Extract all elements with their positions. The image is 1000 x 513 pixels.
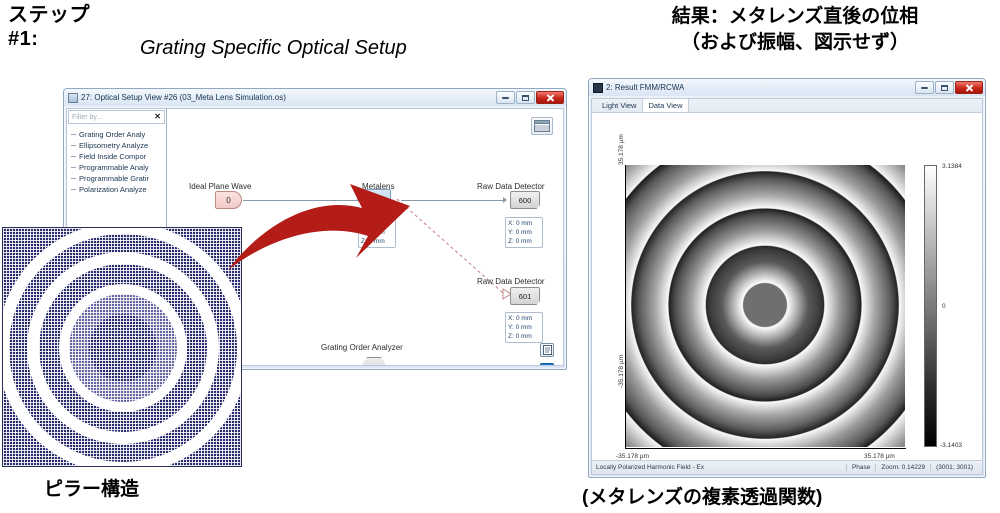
- document-glyph: [543, 345, 552, 355]
- step-label: ステップ #1:: [8, 4, 90, 51]
- pillar-structure-image: [2, 227, 242, 467]
- tree-item[interactable]: Field Inside Compor: [70, 151, 166, 162]
- clear-filter-icon[interactable]: ✕: [154, 113, 161, 121]
- x-axis-line: [625, 448, 906, 449]
- phase-heatmap[interactable]: [625, 165, 905, 447]
- minimize-button[interactable]: [915, 81, 934, 94]
- filter-input[interactable]: Filter by... ✕: [68, 110, 165, 124]
- node-raw-data-detector-600[interactable]: 600: [510, 191, 540, 209]
- tree-item[interactable]: Grating Order Analy: [70, 129, 166, 140]
- node-label-raw-data-detector-600: Raw Data Detector: [477, 182, 545, 191]
- colorbar-mid-label: 0: [942, 303, 946, 310]
- y-axis-max-label: 35.178 µm: [618, 134, 625, 165]
- x-axis-min-label: -35.178 µm: [616, 453, 649, 460]
- optical-setup-window-controls[interactable]: [496, 91, 564, 104]
- pillar-core: [89, 314, 157, 382]
- tree-item[interactable]: Programmable Gratir: [70, 173, 166, 184]
- node-grating-order-analyzer[interactable]: 800: [360, 357, 388, 365]
- result-window-controls[interactable]: [915, 81, 983, 94]
- coord-y: Y: 0 mm: [508, 228, 540, 237]
- optical-setup-title: 27: Optical Setup View #26 (03_Meta Lens…: [81, 93, 286, 102]
- coord-x: X: 0 mm: [508, 219, 540, 228]
- y-axis-line: [625, 165, 626, 448]
- pillar-rings: [3, 228, 241, 466]
- tree-item[interactable]: Polarization Analyze: [70, 184, 166, 195]
- colorbar-max-label: 3.1384: [942, 163, 962, 170]
- status-size: (3001; 3001): [930, 464, 978, 471]
- edge-metalens-to-detector601: [395, 195, 525, 305]
- setup-heading: Grating Specific Optical Setup: [140, 37, 407, 60]
- component-tree-list[interactable]: Grating Order Analy Ellipsometry Analyze…: [67, 125, 166, 195]
- result-body: Light View Data View: [591, 98, 983, 475]
- document-icon[interactable]: [540, 343, 554, 357]
- status-quantity: Phase: [846, 464, 875, 471]
- optical-setup-window-icon: [68, 93, 78, 103]
- maximize-button[interactable]: [516, 91, 535, 104]
- tab-light-view[interactable]: Light View: [596, 98, 642, 112]
- y-axis-min-label: -35.178 µm: [618, 355, 625, 388]
- node-label-grating-order-analyzer: Grating Order Analyzer: [321, 343, 403, 352]
- view-layout-glyph: [534, 120, 550, 132]
- status-field-name: Locally Polarized Harmonic Field - Ex: [596, 464, 846, 471]
- coord-box-detector-600: X: 0 mm Y: 0 mm Z: 0 mm: [505, 217, 543, 248]
- node-raw-data-detector-601[interactable]: 601: [510, 287, 540, 305]
- phase-rings: [625, 165, 905, 447]
- node-label-raw-data-detector-601: Raw Data Detector: [477, 277, 545, 286]
- view-layout-icon[interactable]: [531, 117, 553, 135]
- phase-plot-area[interactable]: 35.178 µm -35.178 µm -35.178 µm 35.178 µ…: [592, 113, 982, 460]
- result-statusbar: Locally Polarized Harmonic Field - Ex Ph…: [592, 460, 982, 474]
- result-heading: 結果：メタレンズ直後の位相 （および振幅、図示せず）: [600, 4, 990, 55]
- result-titlebar[interactable]: 2: Result FMM/RCWA: [589, 79, 985, 96]
- result-tabs[interactable]: Light View Data View: [592, 99, 982, 113]
- caption-pillar-structure: ピラー構造: [44, 474, 139, 501]
- colorbar: [924, 165, 937, 447]
- tree-item[interactable]: Ellipsometry Analyze: [70, 140, 166, 151]
- red-arrow-annotation: [222, 178, 412, 288]
- x-axis-max-label: 35.178 µm: [864, 453, 895, 460]
- close-icon[interactable]: [955, 81, 983, 94]
- step-label-line2: #1:: [8, 28, 90, 52]
- filter-placeholder: Filter by...: [72, 114, 102, 121]
- coord-box-detector-601: X: 0 mm Y: 0 mm Z: 0 mm: [505, 312, 543, 343]
- info-icon[interactable]: i: [540, 363, 554, 365]
- coord-x: X: 0 mm: [508, 314, 540, 323]
- coord-y: Y: 0 mm: [508, 323, 540, 332]
- caption-complex-transmission: (メタレンズの複素透過関数): [582, 482, 822, 509]
- minimize-button[interactable]: [496, 91, 515, 104]
- result-window[interactable]: 2: Result FMM/RCWA Light View Data View: [588, 78, 986, 478]
- coord-z: Z: 0 mm: [508, 332, 540, 341]
- optical-setup-titlebar[interactable]: 27: Optical Setup View #26 (03_Meta Lens…: [64, 89, 566, 106]
- coord-z: Z: 0 mm: [508, 237, 540, 246]
- close-icon[interactable]: [536, 91, 564, 104]
- status-zoom: Zoom: 0.14229: [875, 464, 930, 471]
- slide-root: ステップ #1: Grating Specific Optical Setup …: [0, 0, 1000, 513]
- step-label-line1: ステップ: [8, 4, 90, 28]
- maximize-button[interactable]: [935, 81, 954, 94]
- result-heading-line2: （および振幅、図示せず）: [600, 30, 990, 56]
- tab-data-view[interactable]: Data View: [642, 98, 688, 112]
- result-heading-line1: 結果：メタレンズ直後の位相: [600, 4, 990, 30]
- tree-item[interactable]: Programmable Analy: [70, 162, 166, 173]
- colorbar-min-label: -3.1403: [940, 442, 962, 449]
- result-window-icon: [593, 83, 603, 93]
- result-title: 2: Result FMM/RCWA: [606, 83, 684, 92]
